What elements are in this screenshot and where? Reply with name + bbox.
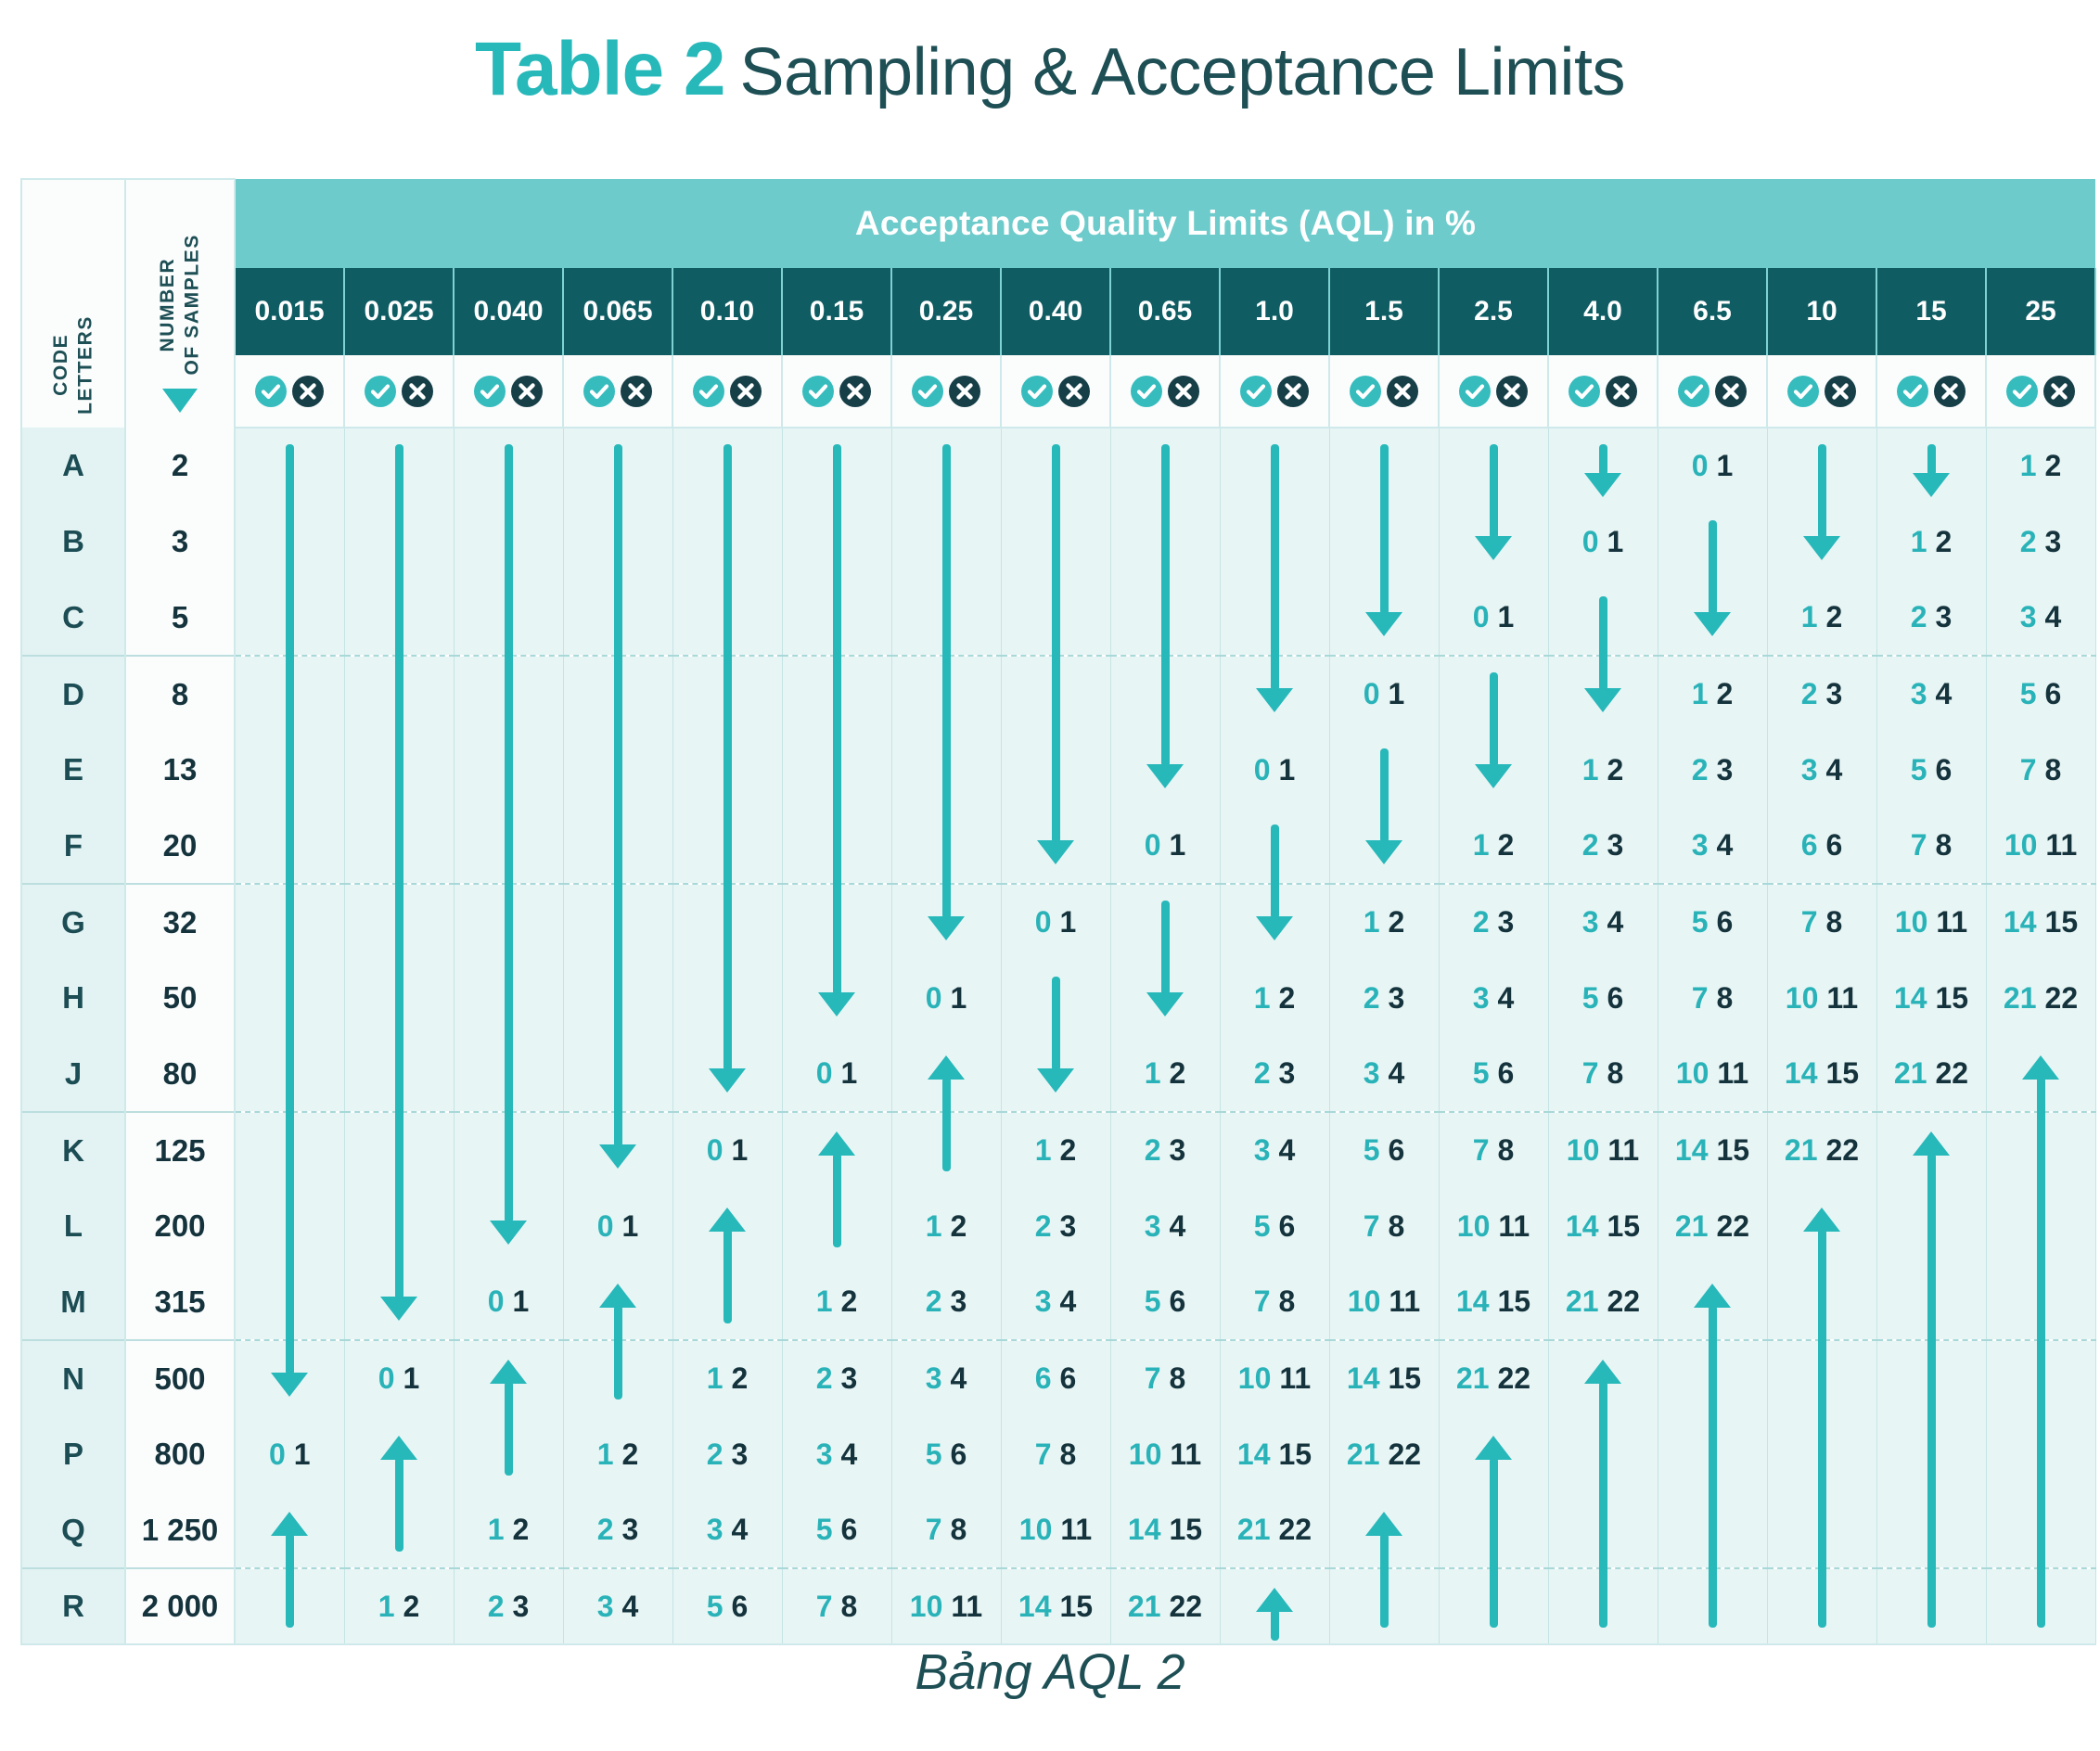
- accept-reject-pair: 34: [926, 1361, 967, 1395]
- aql-data-cell: 56: [1986, 656, 2095, 732]
- aql-data-cell: 34: [1767, 732, 1876, 808]
- check-circle-icon: [912, 376, 943, 407]
- reject-number: 11: [951, 1590, 982, 1623]
- check-circle-icon: [1021, 376, 1053, 407]
- accept-reject-pair: 56: [1582, 981, 1624, 1015]
- reject-number: 15: [1936, 981, 1969, 1015]
- accept-reject-pair: 1011: [910, 1590, 982, 1623]
- accept-number: 5: [2020, 677, 2037, 710]
- aql-data-cell: 1011: [1439, 1188, 1548, 1264]
- aql-data-cell: [1767, 1188, 1876, 1264]
- aql-data-cell: [782, 808, 891, 884]
- accept-number: 1: [2020, 449, 2037, 482]
- aql-data-cell: [1220, 428, 1329, 504]
- aql-data-cell: 1415: [1439, 1264, 1548, 1340]
- aql-data-cell: 1415: [1658, 1112, 1767, 1188]
- aql-data-cell: 78: [891, 1492, 1001, 1568]
- accept-number: 2: [1473, 905, 1490, 939]
- aql-data-cell: 1415: [1548, 1188, 1658, 1264]
- reject-number: 2: [1279, 981, 1296, 1015]
- aql-table-page: Table 2Sampling & Acceptance Limits CODE…: [0, 0, 2100, 1751]
- aql-data-cell: [235, 960, 344, 1036]
- accept-reject-pair: 1415: [1018, 1590, 1093, 1623]
- accept-number: 7: [1473, 1133, 1490, 1167]
- accept-reject-pair: 12: [1254, 981, 1296, 1015]
- aql-data-cell: 12: [672, 1340, 782, 1416]
- check-circle-icon: [474, 376, 506, 407]
- aql-table-wrapper: CODE LETTERS NUMBER OF SAMPLES Acceptanc…: [20, 178, 2070, 1645]
- aql-data-cell: [672, 504, 782, 580]
- accept-number: 21: [2004, 981, 2037, 1015]
- accept-reject-pair: 2122: [1566, 1284, 1640, 1318]
- code-letter-cell: J: [21, 1036, 125, 1112]
- aql-data-cell: 66: [1001, 1340, 1110, 1416]
- aql-data-cell: 12: [1329, 884, 1439, 960]
- accept-reject-pair: 1415: [1128, 1513, 1202, 1546]
- aql-data-cell: [1548, 1492, 1658, 1568]
- reject-number: 8: [1389, 1209, 1405, 1243]
- aql-data-cell: [672, 732, 782, 808]
- accept-number: 7: [1692, 981, 1709, 1015]
- aql-data-cell: 34: [672, 1492, 782, 1568]
- aql-data-cell: [1329, 732, 1439, 808]
- accept-reject-pair: 78: [1692, 981, 1734, 1015]
- x-circle-icon: [1496, 376, 1528, 407]
- aql-column-header: 15: [1876, 268, 1986, 355]
- aql-data-cell: [235, 808, 344, 884]
- aql-data-cell: [1001, 580, 1110, 656]
- reject-number: 2: [1060, 1133, 1077, 1167]
- aql-data-cell: [1001, 428, 1110, 504]
- aql-data-cell: 01: [1548, 504, 1658, 580]
- accept-reject-icon-cell: [1767, 355, 1876, 428]
- table-row: K125011223345678101114152122: [21, 1112, 2095, 1188]
- accept-reject-icon-cell: [454, 355, 563, 428]
- aql-data-cell: [1220, 656, 1329, 732]
- aql-data-cell: [1767, 1492, 1876, 1568]
- reject-number: 6: [1717, 905, 1734, 939]
- aql-column-header: 0.25: [891, 268, 1001, 355]
- accept-reject-pair: 12: [926, 1209, 967, 1243]
- accept-number: 14: [1128, 1513, 1161, 1546]
- reject-number: 15: [1279, 1438, 1312, 1471]
- aql-data-cell: 23: [891, 1264, 1001, 1340]
- accept-number: 6: [1035, 1361, 1052, 1395]
- reject-number: 22: [1936, 1056, 1969, 1090]
- reject-number: 8: [1826, 905, 1843, 939]
- aql-data-cell: 01: [454, 1264, 563, 1340]
- aql-data-cell: [454, 808, 563, 884]
- sample-size-cell: 1 250: [125, 1492, 235, 1568]
- accept-reject-pair: 56: [926, 1438, 967, 1471]
- aql-data-cell: 1415: [1110, 1492, 1220, 1568]
- aql-data-cell: [1767, 428, 1876, 504]
- aql-data-cell: 56: [782, 1492, 891, 1568]
- aql-data-cell: [454, 1112, 563, 1188]
- accept-number: 7: [1364, 1209, 1380, 1243]
- aql-data-cell: [563, 732, 672, 808]
- accept-reject-pair: 01: [1254, 753, 1296, 786]
- aql-data-cell: 78: [1001, 1416, 1110, 1492]
- aql-data-cell: [782, 1188, 891, 1264]
- aql-column-header: 0.40: [1001, 268, 1110, 355]
- reject-number: 8: [1170, 1361, 1186, 1395]
- accept-reject-pair: 23: [707, 1438, 749, 1471]
- aql-data-cell: [1329, 1492, 1439, 1568]
- table-caption: Bảng AQL 2: [0, 1643, 2100, 1701]
- code-letter-cell: Q: [21, 1492, 125, 1568]
- accept-reject-pair: 78: [1582, 1056, 1624, 1090]
- aql-data-cell: [344, 1112, 454, 1188]
- aql-data-cell: 12: [1220, 960, 1329, 1036]
- accept-number: 2: [1035, 1209, 1052, 1243]
- aql-data-cell: [782, 960, 891, 1036]
- check-circle-icon: [1350, 376, 1381, 407]
- accept-reject-icon-cell: [672, 355, 782, 428]
- accept-reject-pair: 01: [597, 1209, 639, 1243]
- accept-reject-pair: 23: [1254, 1056, 1296, 1090]
- accept-number: 7: [926, 1513, 942, 1546]
- reject-number: 11: [2045, 828, 2077, 862]
- aql-data-cell: 01: [1001, 884, 1110, 960]
- reject-number: 3: [951, 1284, 967, 1318]
- accept-reject-pair: 01: [378, 1361, 420, 1395]
- aql-data-cell: 34: [1876, 656, 1986, 732]
- reject-number: 3: [1389, 981, 1405, 1015]
- accept-reject-pair: 66: [1035, 1361, 1077, 1395]
- aql-data-cell: [1767, 1416, 1876, 1492]
- aql-data-cell: 23: [1548, 808, 1658, 884]
- accept-number: 14: [1785, 1056, 1818, 1090]
- accept-number: 10: [1129, 1438, 1162, 1471]
- accept-number: 3: [1035, 1284, 1052, 1318]
- accept-reject-icon-row: [21, 355, 2095, 428]
- reject-number: 8: [1498, 1133, 1515, 1167]
- aql-data-cell: 1011: [1220, 1340, 1329, 1416]
- reject-number: 15: [2045, 905, 2079, 939]
- x-circle-icon: [292, 376, 324, 407]
- accept-reject-pair: 1011: [1676, 1056, 1748, 1090]
- reject-number: 8: [1717, 981, 1734, 1015]
- aql-data-cell: 1415: [1329, 1340, 1439, 1416]
- accept-reject-pair: 34: [1035, 1284, 1077, 1318]
- aql-data-cell: [563, 960, 672, 1036]
- aql-data-cell: 34: [1548, 884, 1658, 960]
- table-row: M315011223345678101114152122: [21, 1264, 2095, 1340]
- aql-data-cell: 2122: [1767, 1112, 1876, 1188]
- code-letter-cell: F: [21, 808, 125, 884]
- accept-reject-pair: 12: [1145, 1056, 1186, 1090]
- aql-data-cell: 2122: [1439, 1340, 1548, 1416]
- aql-data-cell: 01: [1220, 732, 1329, 808]
- aql-data-cell: 12: [891, 1188, 1001, 1264]
- aql-data-cell: 2122: [1110, 1568, 1220, 1644]
- reject-number: 4: [1279, 1133, 1296, 1167]
- check-circle-icon: [1897, 376, 1928, 407]
- accept-reject-pair: 23: [816, 1361, 858, 1395]
- check-circle-icon: [255, 376, 287, 407]
- table-row: H50011223345678101114152122: [21, 960, 2095, 1036]
- x-circle-icon: [1277, 376, 1309, 407]
- aql-data-cell: [563, 1112, 672, 1188]
- aql-data-cell: [1658, 1264, 1767, 1340]
- aql-data-cell: 01: [891, 960, 1001, 1036]
- aql-data-cell: [1767, 1264, 1876, 1340]
- aql-data-cell: 1011: [1658, 1036, 1767, 1112]
- x-circle-icon: [949, 376, 980, 407]
- accept-number: 5: [1692, 905, 1709, 939]
- table-row: D80112233456: [21, 656, 2095, 732]
- reject-number: 4: [1607, 905, 1624, 939]
- accept-number: 5: [816, 1513, 833, 1546]
- aql-data-cell: [1548, 1568, 1658, 1644]
- aql-banner: Acceptance Quality Limits (AQL) in %: [235, 179, 2095, 268]
- accept-reject-pair: 23: [1364, 981, 1405, 1015]
- table-row: C501122334: [21, 580, 2095, 656]
- accept-number: 2: [1254, 1056, 1271, 1090]
- accept-reject-pair: 78: [926, 1513, 967, 1546]
- sample-size-cell: 500: [125, 1340, 235, 1416]
- aql-data-cell: [1876, 1264, 1986, 1340]
- accept-reject-pair: 1415: [2004, 905, 2078, 939]
- aql-data-cell: [1986, 1340, 2095, 1416]
- accept-reject-pair: 12: [1801, 600, 1843, 633]
- x-circle-icon: [402, 376, 433, 407]
- aql-data-cell: [782, 1112, 891, 1188]
- sample-size-cell: 8: [125, 656, 235, 732]
- aql-data-cell: [1329, 580, 1439, 656]
- accept-number: 5: [926, 1438, 942, 1471]
- accept-number: 3: [707, 1513, 723, 1546]
- aql-data-cell: [1110, 428, 1220, 504]
- reject-number: 8: [1060, 1438, 1077, 1471]
- reject-number: 4: [2045, 600, 2062, 633]
- accept-number: 0: [926, 981, 942, 1015]
- aql-data-cell: 56: [891, 1416, 1001, 1492]
- accept-reject-pair: 34: [597, 1590, 639, 1623]
- aql-data-cell: [1986, 1416, 2095, 1492]
- aql-data-cell: [1001, 808, 1110, 884]
- title-main: Table 2: [475, 27, 724, 111]
- aql-data-cell: 12: [1986, 428, 2095, 504]
- accept-number: 10: [910, 1590, 943, 1623]
- reject-number: 15: [1170, 1513, 1203, 1546]
- accept-reject-pair: 1011: [1786, 981, 1858, 1015]
- aql-data-cell: 12: [344, 1568, 454, 1644]
- aql-data-cell: 78: [782, 1568, 891, 1644]
- code-letter-cell: E: [21, 732, 125, 808]
- aql-data-cell: [454, 960, 563, 1036]
- aql-data-cell: [891, 1036, 1001, 1112]
- aql-data-cell: [1329, 504, 1439, 580]
- accept-number: 3: [1582, 905, 1599, 939]
- accept-reject-pair: 2122: [1675, 1209, 1749, 1243]
- aql-data-cell: [563, 580, 672, 656]
- reject-number: 11: [1170, 1438, 1201, 1471]
- aql-table: CODE LETTERS NUMBER OF SAMPLES Acceptanc…: [20, 178, 2096, 1645]
- check-circle-icon: [365, 376, 396, 407]
- reject-number: 1: [1607, 525, 1624, 558]
- aql-data-cell: 1011: [1548, 1112, 1658, 1188]
- accept-number: 1: [1254, 981, 1271, 1015]
- aql-data-cell: 56: [1439, 1036, 1548, 1112]
- reject-number: 1: [294, 1438, 311, 1471]
- accept-reject-icon-cell: [891, 355, 1001, 428]
- accept-reject-icon-cell: [563, 355, 672, 428]
- aql-column-header: 0.065: [563, 268, 672, 355]
- reject-number: 3: [1060, 1209, 1077, 1243]
- accept-number: 7: [1254, 1284, 1271, 1318]
- accept-number: 14: [1456, 1284, 1490, 1318]
- reject-number: 15: [1607, 1209, 1641, 1243]
- accept-number: 0: [707, 1133, 723, 1167]
- reject-number: 2: [1170, 1056, 1186, 1090]
- code-letter-cell: C: [21, 580, 125, 656]
- accept-number: 3: [597, 1590, 614, 1623]
- accept-reject-pair: 56: [1254, 1209, 1296, 1243]
- x-circle-icon: [621, 376, 652, 407]
- aql-data-cell: 78: [1767, 884, 1876, 960]
- accept-number: 21: [1894, 1056, 1927, 1090]
- page-title: Table 2Sampling & Acceptance Limits: [0, 26, 2100, 113]
- reject-number: 2: [622, 1438, 639, 1471]
- reject-number: 22: [1717, 1209, 1750, 1243]
- accept-reject-pair: 2122: [1785, 1133, 1859, 1167]
- code-letter-cell: B: [21, 504, 125, 580]
- aql-data-cell: [672, 1264, 782, 1340]
- sample-size-cell: 800: [125, 1416, 235, 1492]
- aql-data-cell: [344, 504, 454, 580]
- reject-number: 1: [1170, 828, 1186, 862]
- aql-data-cell: 23: [1220, 1036, 1329, 1112]
- accept-number: 1: [597, 1438, 614, 1471]
- accept-reject-pair: 01: [1582, 525, 1624, 558]
- sample-size-cell: 20: [125, 808, 235, 884]
- reject-number: 2: [1717, 677, 1734, 710]
- reject-number: 22: [1607, 1284, 1641, 1318]
- accept-number: 14: [1675, 1133, 1709, 1167]
- aql-data-cell: [454, 1340, 563, 1416]
- accept-number: 7: [1035, 1438, 1052, 1471]
- accept-reject-pair: 2122: [1347, 1438, 1421, 1471]
- accept-number: 7: [1145, 1361, 1161, 1395]
- table-row: Q1 2501223345678101114152122: [21, 1492, 2095, 1568]
- check-circle-icon: [1459, 376, 1491, 407]
- aql-data-cell: 01: [563, 1188, 672, 1264]
- x-circle-icon: [1715, 376, 1747, 407]
- accept-number: 14: [1237, 1438, 1271, 1471]
- accept-reject-pair: 01: [1364, 677, 1405, 710]
- reject-number: 3: [1170, 1133, 1186, 1167]
- reject-number: 8: [951, 1513, 967, 1546]
- reject-number: 3: [1498, 905, 1515, 939]
- aql-data-cell: 78: [1986, 732, 2095, 808]
- reject-number: 1: [1498, 600, 1515, 633]
- table-row: B3011223: [21, 504, 2095, 580]
- code-letter-cell: L: [21, 1188, 125, 1264]
- aql-column-header: 6.5: [1658, 268, 1767, 355]
- accept-reject-pair: 2122: [1237, 1513, 1312, 1546]
- aql-data-cell: 01: [1329, 656, 1439, 732]
- reject-number: 11: [1060, 1513, 1092, 1546]
- aql-data-cell: 01: [782, 1036, 891, 1112]
- aql-data-cell: 23: [1439, 884, 1548, 960]
- aql-data-cell: 1011: [1329, 1264, 1439, 1340]
- accept-reject-pair: 01: [269, 1438, 311, 1471]
- aql-data-cell: [1658, 504, 1767, 580]
- aql-data-cell: 2122: [1329, 1416, 1439, 1492]
- sample-size-cell: 200: [125, 1188, 235, 1264]
- aql-data-cell: 12: [454, 1492, 563, 1568]
- aql-data-cell: [235, 504, 344, 580]
- aql-data-cell: 56: [1110, 1264, 1220, 1340]
- sample-size-cell: 80: [125, 1036, 235, 1112]
- aql-data-cell: 34: [1329, 1036, 1439, 1112]
- aql-data-cell: [1439, 1492, 1548, 1568]
- accept-number: 10: [1457, 1209, 1491, 1243]
- aql-data-cell: [1220, 580, 1329, 656]
- accept-reject-pair: 1011: [2004, 828, 2077, 862]
- accept-number: 0: [1035, 905, 1052, 939]
- reject-number: 8: [1607, 1056, 1624, 1090]
- aql-data-cell: 1011: [1986, 808, 2095, 884]
- reject-number: 15: [1498, 1284, 1531, 1318]
- reject-number: 2: [513, 1513, 530, 1546]
- sample-size-cell: 5: [125, 580, 235, 656]
- accept-reject-pair: 12: [1582, 753, 1624, 786]
- accept-reject-pair: 23: [1692, 753, 1734, 786]
- accept-reject-pair: 12: [2020, 449, 2062, 482]
- aql-data-cell: [672, 808, 782, 884]
- code-letter-cell: M: [21, 1264, 125, 1340]
- aql-data-cell: [1110, 884, 1220, 960]
- reject-number: 6: [732, 1590, 749, 1623]
- aql-data-cell: 34: [891, 1340, 1001, 1416]
- reject-number: 11: [1498, 1209, 1530, 1243]
- aql-data-cell: [1767, 1340, 1876, 1416]
- accept-number: 7: [816, 1590, 833, 1623]
- reject-number: 22: [1170, 1590, 1203, 1623]
- aql-data-cell: [235, 1492, 344, 1568]
- aql-data-cell: 12: [1658, 656, 1767, 732]
- accept-reject-pair: 34: [1911, 677, 1953, 710]
- accept-reject-pair: 12: [597, 1438, 639, 1471]
- table-row: R2 0001223345678101114152122: [21, 1568, 2095, 1644]
- aql-data-cell: 56: [1876, 732, 1986, 808]
- reject-number: 1: [1279, 753, 1296, 786]
- accept-number: 21: [1237, 1513, 1271, 1546]
- accept-number: 0: [1692, 449, 1709, 482]
- accept-number: 14: [1347, 1361, 1380, 1395]
- aql-data-cell: [782, 732, 891, 808]
- check-circle-icon: [1678, 376, 1709, 407]
- accept-number: 1: [1145, 1056, 1161, 1090]
- code-letter-cell: G: [21, 884, 125, 960]
- aql-data-cell: [344, 580, 454, 656]
- accept-reject-pair: 1415: [1566, 1209, 1640, 1243]
- aql-data-cell: 2122: [1548, 1264, 1658, 1340]
- reject-number: 1: [513, 1284, 530, 1318]
- aql-data-cell: [344, 656, 454, 732]
- accept-reject-pair: 01: [1035, 905, 1077, 939]
- aql-data-cell: 23: [454, 1568, 563, 1644]
- reject-number: 1: [1717, 449, 1734, 482]
- aql-column-header-row: 0.0150.0250.0400.0650.100.150.250.400.65…: [21, 268, 2095, 355]
- aql-data-cell: 23: [563, 1492, 672, 1568]
- reject-number: 1: [1060, 905, 1077, 939]
- aql-data-cell: [1439, 504, 1548, 580]
- aql-data-cell: [1001, 960, 1110, 1036]
